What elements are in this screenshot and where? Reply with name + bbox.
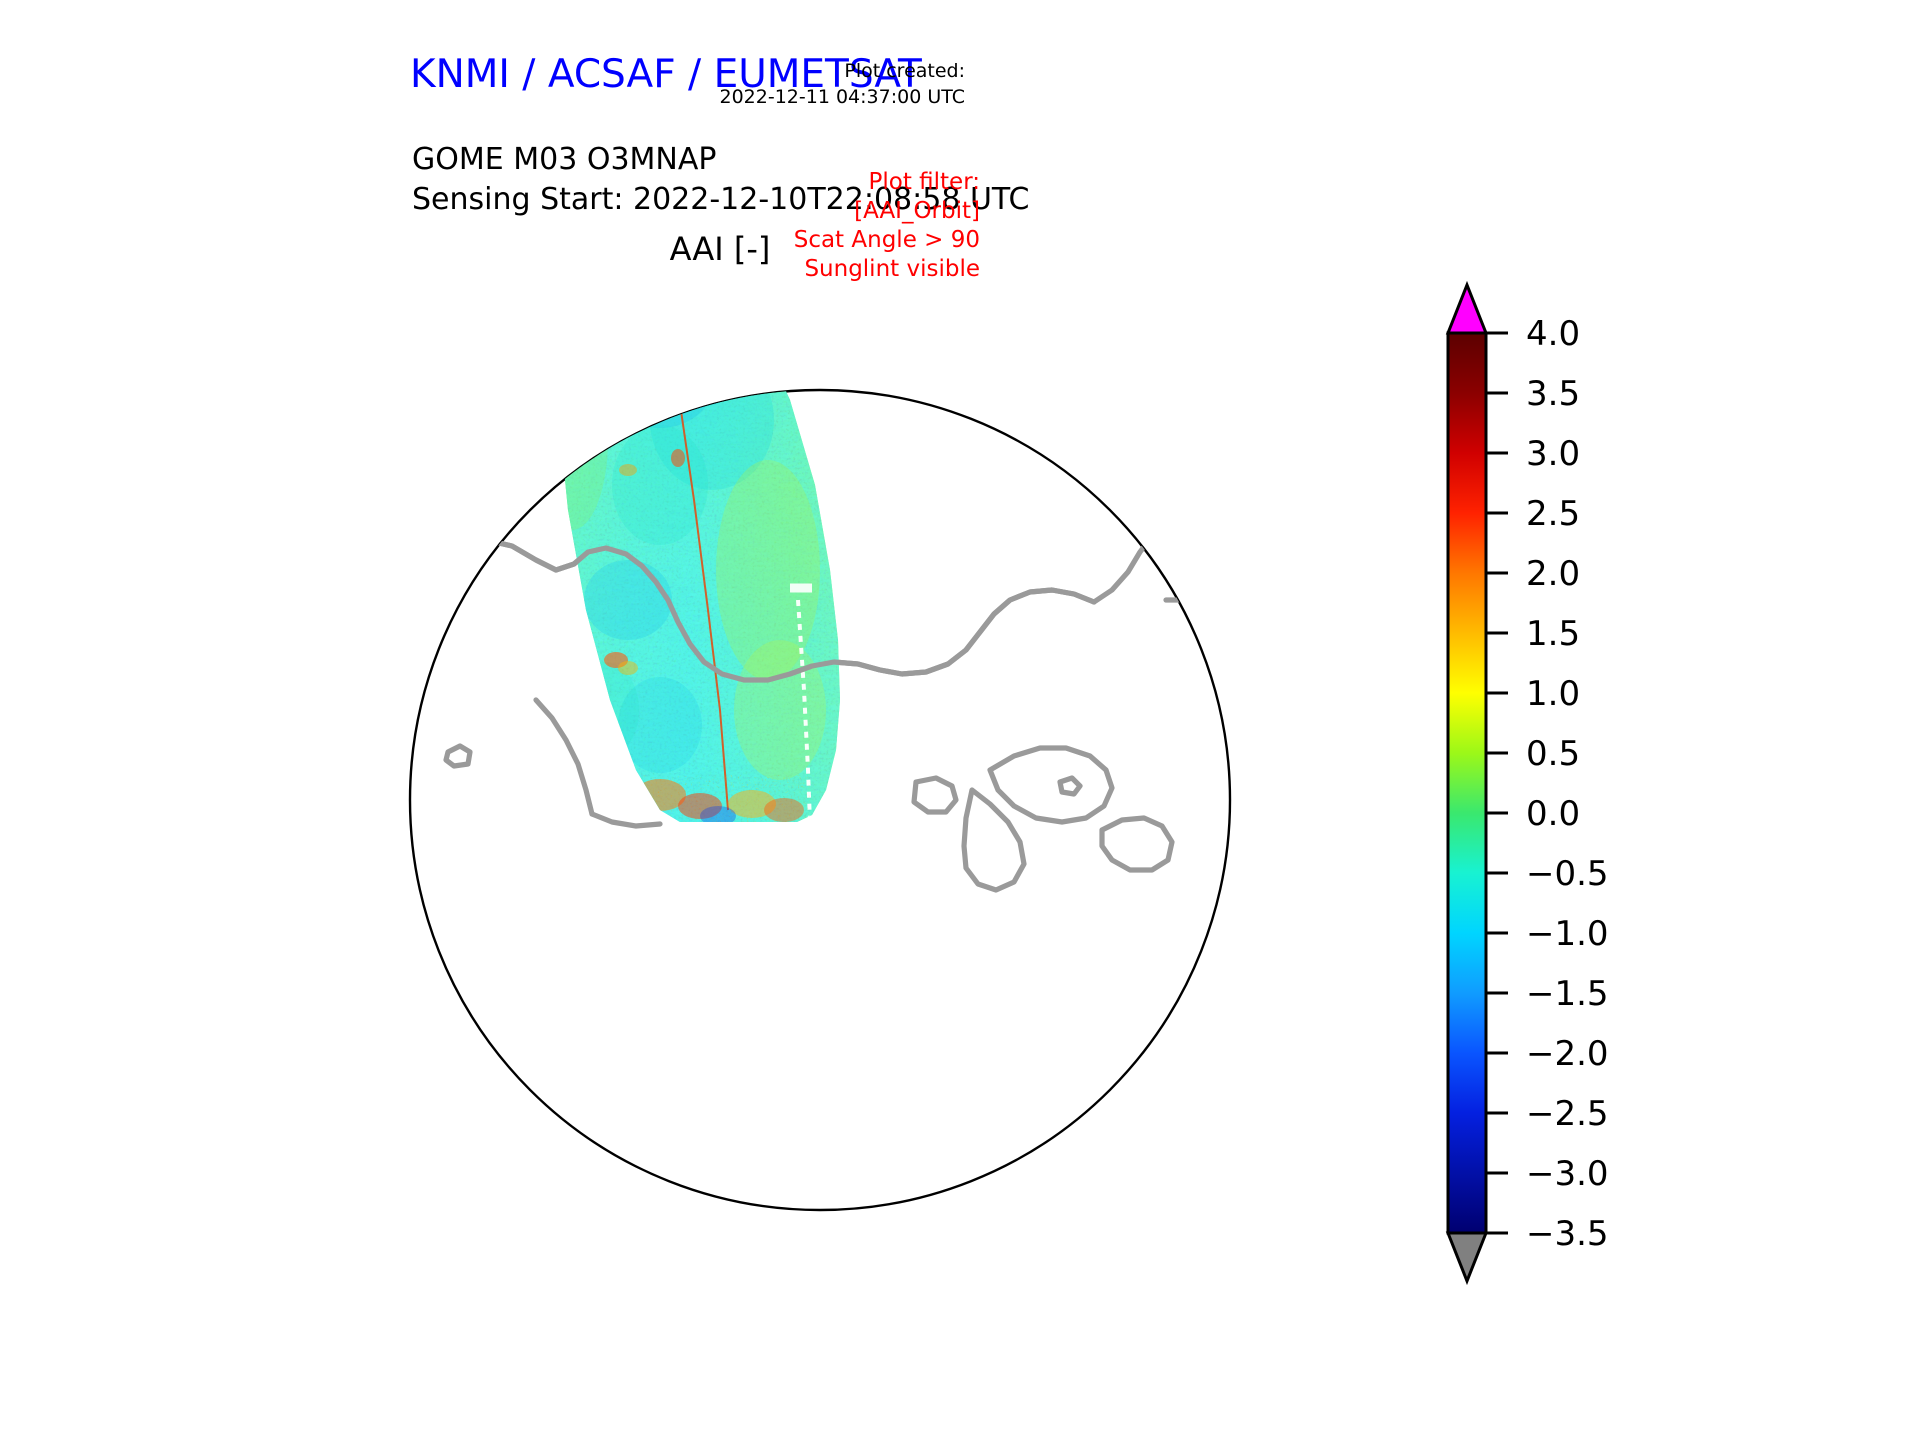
colorbar-tick-label: −2.0 (1526, 1034, 1609, 1074)
colorbar-over-arrow (1448, 285, 1486, 333)
plot-created-label: Plot created: (720, 58, 966, 84)
colorbar-tick-label: −0.5 (1526, 854, 1609, 894)
colorbar-tick-label: −3.5 (1526, 1214, 1609, 1254)
plot-filter-product: [AAI_Orbit] (794, 197, 980, 226)
colorbar-tick-label: 4.0 (1526, 314, 1580, 354)
colorbar-tick-label: 2.5 (1526, 494, 1580, 534)
plot-axis-title: AAI [-] (0, 230, 1440, 268)
plot-page: KNMI / ACSAF / EUMETSAT Plot created: 20… (0, 0, 1920, 1440)
colorbar-tick-label: 3.5 (1526, 374, 1580, 414)
orthographic-map (360, 270, 1390, 1330)
colorbar-tick-label: 3.0 (1526, 434, 1580, 474)
colorbar-tick-label: 0.0 (1526, 794, 1580, 834)
plot-created-block: Plot created: 2022-12-11 04:37:00 UTC (720, 58, 966, 110)
plot-filter-block: Plot filter: [AAI_Orbit] Scat Angle > 90… (794, 168, 980, 284)
colorbar-tick-label: −2.5 (1526, 1094, 1609, 1134)
colorbar-tick-label: −1.0 (1526, 914, 1609, 954)
plot-filter-scat-angle: Scat Angle > 90 (794, 226, 980, 255)
map-panel (360, 270, 1390, 1330)
colorbar-tick-label: 2.0 (1526, 554, 1580, 594)
colorbar-tick-label: 1.5 (1526, 614, 1580, 654)
colorbar-ticks: 4.03.53.02.52.01.51.00.50.0−0.5−1.0−1.5−… (1486, 314, 1609, 1254)
colorbar-panel: 4.03.53.02.52.01.51.00.50.0−0.5−1.0−1.5−… (1430, 275, 1900, 1345)
colorbar-gradient (1448, 333, 1486, 1233)
colorbar-tick-label: −1.5 (1526, 974, 1609, 1014)
colorbar-tick-label: −3.0 (1526, 1154, 1609, 1194)
colorbar-under-arrow (1448, 1233, 1486, 1281)
colorbar-tick-label: 1.0 (1526, 674, 1580, 714)
plot-filter-label: Plot filter: (794, 168, 980, 197)
plot-created-value: 2022-12-11 04:37:00 UTC (720, 84, 966, 110)
colorbar-tick-label: 0.5 (1526, 734, 1580, 774)
colorbar: 4.03.53.02.52.01.51.00.50.0−0.5−1.0−1.5−… (1430, 275, 1900, 1345)
